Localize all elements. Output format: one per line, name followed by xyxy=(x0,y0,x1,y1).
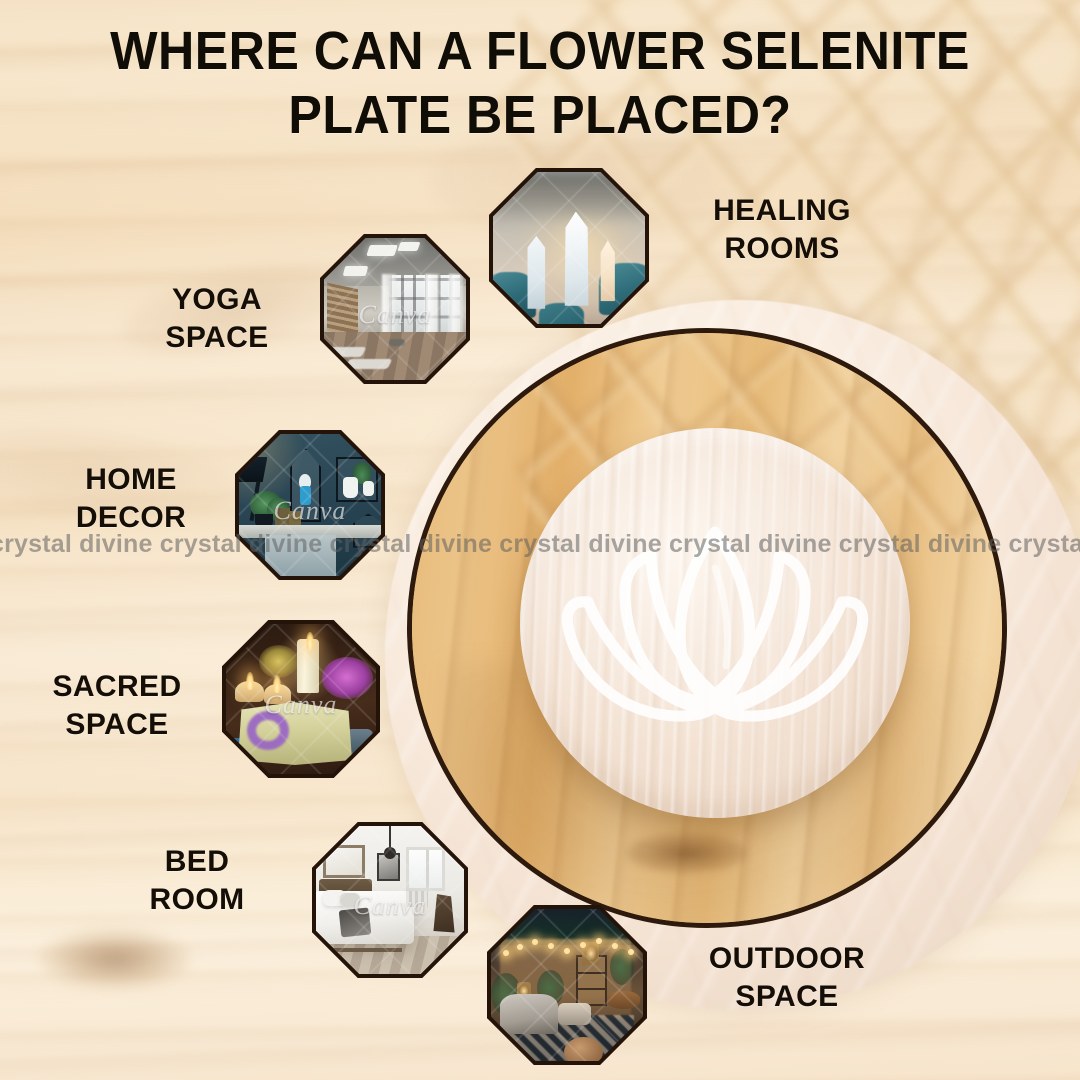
lotus-flower-icon xyxy=(520,428,910,818)
pine-knot-icon xyxy=(627,833,747,873)
label-line-1: HOME xyxy=(26,461,236,499)
thumbnail-healing-rooms[interactable] xyxy=(489,168,649,328)
label-line-1: YOGA xyxy=(112,281,322,319)
window-icon xyxy=(406,847,444,891)
label-yoga-space: YOGA SPACE xyxy=(112,281,322,357)
thumbnail-bed-room[interactable]: Canva xyxy=(312,822,468,978)
scene-outdoor-space xyxy=(491,909,643,1061)
infographic-canvas: WHERE CAN A FLOWER SELENITE PLATE BE PLA… xyxy=(0,0,1080,1080)
ceiling-light-icon xyxy=(398,242,421,251)
string-lights-icon xyxy=(494,935,640,968)
scene-sacred-space xyxy=(226,624,376,774)
scene-home-decor xyxy=(239,434,381,576)
label-line-1: HEALING xyxy=(672,192,892,230)
label-line-2: DECOR xyxy=(26,499,236,537)
octagon-inner: Canva xyxy=(226,624,376,774)
thumbnail-outdoor-space[interactable] xyxy=(487,905,647,1065)
geode-icon xyxy=(539,303,585,324)
dried-flowers-icon xyxy=(259,645,298,678)
label-home-decor: HOME DECOR xyxy=(26,461,236,537)
selenite-plate-photo xyxy=(407,328,1007,928)
scene-yoga-space xyxy=(324,238,466,380)
scene-healing-rooms xyxy=(493,172,645,324)
ornament-icon xyxy=(300,486,310,504)
label-line-2: ROOM xyxy=(92,881,302,919)
center-product-image xyxy=(385,300,1080,1010)
vase-icon xyxy=(343,477,359,498)
window-mullion xyxy=(426,850,429,888)
side-table-icon xyxy=(607,991,640,1009)
octagon-inner xyxy=(491,909,643,1061)
octagon-inner xyxy=(493,172,645,324)
octagon-inner: Canva xyxy=(324,238,466,380)
label-sacred-space: SACRED SPACE xyxy=(12,668,222,744)
selenite-disc xyxy=(520,428,910,818)
label-line-2: SPACE xyxy=(12,706,222,744)
flame-icon xyxy=(246,672,254,690)
label-line-2: ROOMS xyxy=(672,230,892,268)
coffee-table-icon xyxy=(558,1003,591,1024)
flame-icon xyxy=(306,632,314,650)
thumbnail-sacred-space[interactable]: Canva xyxy=(222,620,380,778)
pendant-light-icon xyxy=(389,826,391,850)
octagon-inner: Canva xyxy=(316,826,464,974)
label-outdoor-space: OUTDOOR SPACE xyxy=(662,940,912,1016)
yoga-block-icon xyxy=(389,339,405,346)
radiator-icon xyxy=(327,283,358,338)
vase-icon xyxy=(363,481,374,497)
ceiling-light-icon xyxy=(343,266,368,276)
label-line-1: BED xyxy=(92,843,302,881)
label-bed-room: BED ROOM xyxy=(92,843,302,919)
cabinet xyxy=(265,535,336,576)
throw-blanket-icon xyxy=(338,907,370,937)
label-healing-rooms: HEALING ROOMS xyxy=(672,192,892,268)
page-title-line-2: PLATE BE PLACED? xyxy=(38,84,1042,148)
flower-wreath-icon xyxy=(247,711,289,750)
daybed-icon xyxy=(500,994,558,1034)
bed-frame xyxy=(331,938,402,951)
crystal-point-icon xyxy=(598,240,618,301)
pillow-icon xyxy=(340,893,361,908)
scene-bed-room xyxy=(316,826,464,974)
flame-icon xyxy=(273,675,281,693)
thumbnail-home-decor[interactable]: Canva xyxy=(235,430,385,580)
octagon-inner: Canva xyxy=(239,434,381,576)
page-title-line-1: WHERE CAN A FLOWER SELENITE xyxy=(110,21,970,81)
label-line-2: SPACE xyxy=(662,978,912,1016)
label-line-2: SPACE xyxy=(112,319,322,357)
page-title: WHERE CAN A FLOWER SELENITE PLATE BE PLA… xyxy=(38,20,1042,147)
crystal-point-icon xyxy=(557,212,597,306)
purple-flowers-icon xyxy=(322,657,373,699)
label-line-1: OUTDOOR xyxy=(662,940,912,978)
ceiling-light-icon xyxy=(366,245,398,256)
radiator-icon xyxy=(406,891,428,907)
thumbnail-yoga-space[interactable]: Canva xyxy=(320,234,470,384)
label-line-1: SACRED xyxy=(12,668,222,706)
